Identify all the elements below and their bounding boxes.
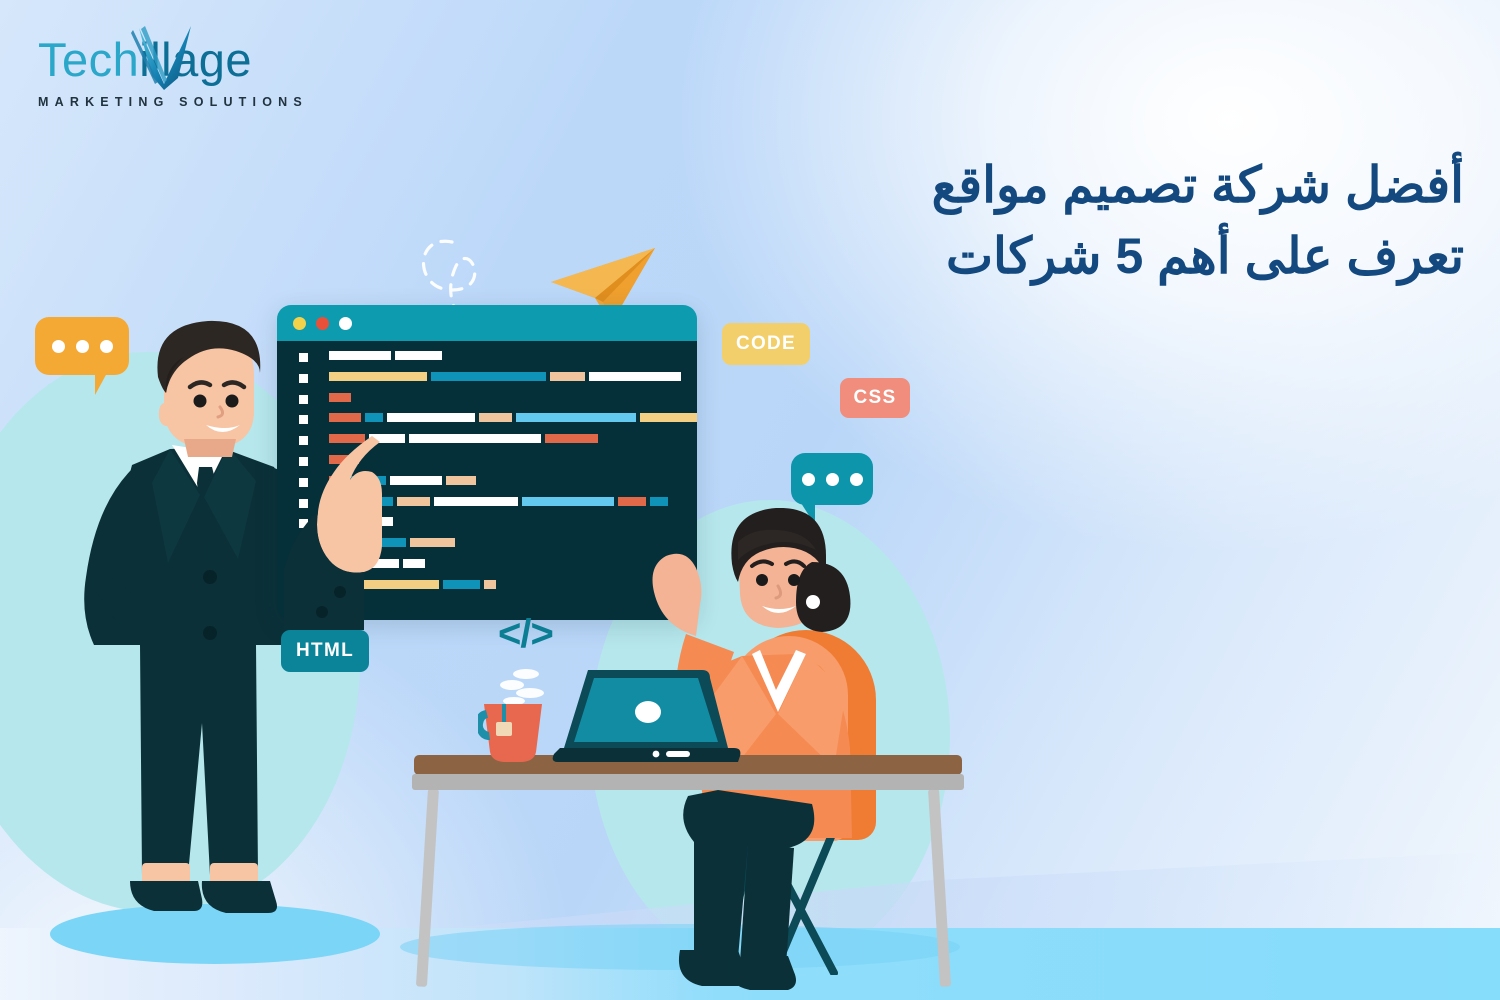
badge-code[interactable]: CODE xyxy=(722,323,810,365)
banner-canvas: Techillage MARKETING SOLUTIONS أفضل شركة… xyxy=(0,0,1500,1000)
bubble-dot xyxy=(802,473,815,486)
headline-line-2: تعرف على أهم 5 شركات xyxy=(684,221,1464,292)
coffee-mug-icon xyxy=(478,700,550,766)
traffic-light-white-icon[interactable] xyxy=(339,317,352,330)
speech-bubble-teal xyxy=(791,453,873,505)
traffic-light-red-icon[interactable] xyxy=(316,317,329,330)
code-token xyxy=(443,580,480,589)
code-line xyxy=(329,351,691,360)
bubble-dot xyxy=(850,473,863,486)
laptop-icon[interactable] xyxy=(552,668,742,768)
code-token xyxy=(484,580,496,589)
bubble-dot xyxy=(76,340,89,353)
headline-line-1: أفضل شركة تصميم مواقع xyxy=(684,150,1464,221)
bubble-dot xyxy=(826,473,839,486)
desk xyxy=(398,755,963,985)
code-token xyxy=(434,497,518,506)
code-token xyxy=(409,434,541,443)
code-token xyxy=(479,413,512,422)
code-token xyxy=(650,497,668,506)
logo-wordmark: Techillage xyxy=(38,36,288,83)
code-token xyxy=(640,413,697,422)
code-token xyxy=(446,476,476,485)
code-token xyxy=(395,351,442,360)
code-token xyxy=(516,413,636,422)
traffic-light-yellow-icon[interactable] xyxy=(293,317,306,330)
line-number-marker xyxy=(299,395,308,404)
code-token xyxy=(329,372,427,381)
code-token xyxy=(618,497,646,506)
code-token xyxy=(589,372,681,381)
line-number-marker xyxy=(299,374,308,383)
badge-html[interactable]: HTML xyxy=(281,630,369,672)
code-token xyxy=(522,497,614,506)
bubble-dot xyxy=(52,340,65,353)
code-token xyxy=(410,538,455,547)
code-token xyxy=(431,372,546,381)
code-token xyxy=(329,393,351,402)
desk-leg-right xyxy=(928,789,951,987)
code-window-titlebar xyxy=(277,305,697,341)
logo-subtitle: MARKETING SOLUTIONS xyxy=(38,95,288,109)
line-number-marker xyxy=(299,353,308,362)
logo-word-tech: Tech xyxy=(38,33,139,86)
page-title: أفضل شركة تصميم مواقع تعرف على أهم 5 شرك… xyxy=(684,150,1464,292)
code-token xyxy=(403,559,425,568)
code-token xyxy=(545,434,598,443)
speech-bubble-orange xyxy=(35,317,129,375)
code-token xyxy=(550,372,585,381)
code-token xyxy=(329,351,391,360)
code-line xyxy=(329,372,691,381)
code-line xyxy=(329,393,691,402)
pointing-hand-icon xyxy=(284,420,404,630)
badge-css[interactable]: CSS xyxy=(840,378,910,418)
desk-leg-left xyxy=(416,789,439,987)
code-tag-icon: </> xyxy=(498,612,553,657)
v-checkmark-icon xyxy=(131,26,201,90)
bubble-dot xyxy=(100,340,113,353)
brand-logo[interactable]: Techillage MARKETING SOLUTIONS xyxy=(38,36,288,109)
desk-edge xyxy=(412,774,964,790)
